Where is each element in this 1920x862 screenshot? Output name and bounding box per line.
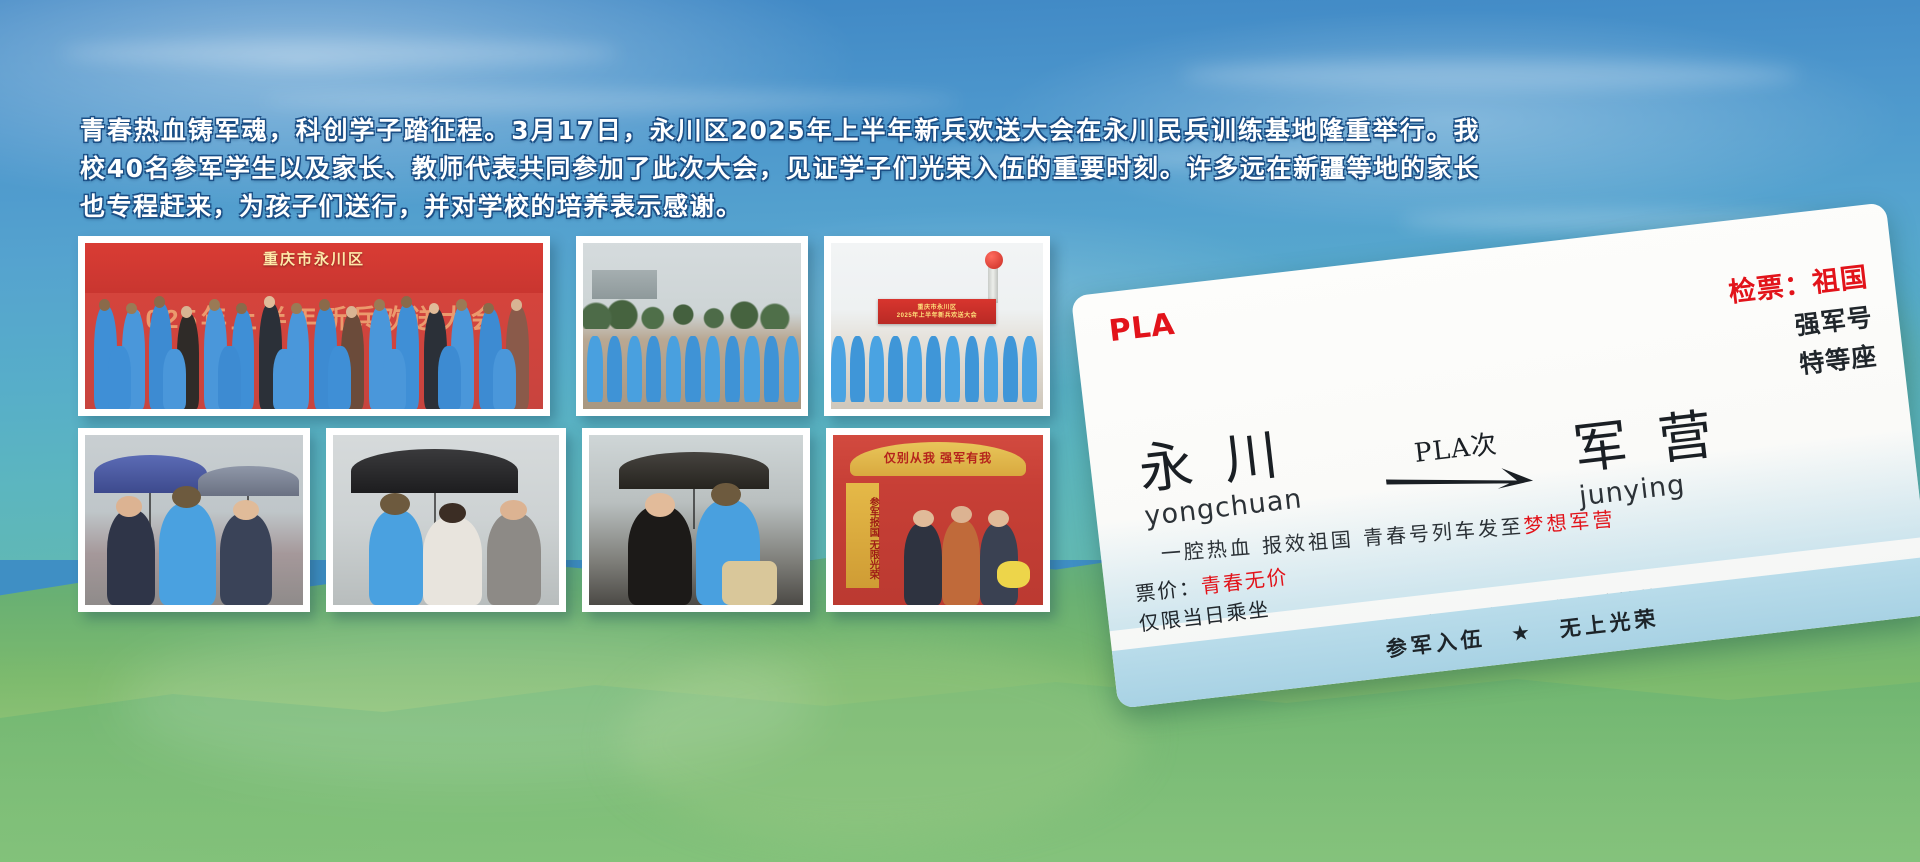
photo-red-archway[interactable]: 仅别从我 强军有我 参军报国 无限光荣	[826, 428, 1050, 612]
photo-farewell-blue-umbrella[interactable]	[78, 428, 310, 612]
star-icon: ★	[1510, 621, 1535, 644]
photo-group-red-stage[interactable]: 重庆市永川区 2025年上半年新兵欢送大会	[78, 236, 550, 416]
flower-bouquet	[997, 561, 1031, 588]
umbrella-icon-2	[198, 466, 298, 497]
archway-text: 仅别从我 强军有我	[884, 449, 992, 466]
archway-side-text: 参军报国 无限光荣	[846, 483, 880, 588]
black-umbrella-icon	[351, 449, 518, 493]
ticket-price-label: 票价：	[1134, 575, 1202, 606]
ticket-strip-left: 参军入伍	[1384, 622, 1487, 663]
ticket-brand: PLA	[1107, 307, 1176, 349]
poster-canvas: 青春热血铸军魂，科创学子踏征程。3月17日，永川区2025年上半年新兵欢送大会在…	[0, 0, 1920, 862]
ticket-check-block: 检票：祖国 强军号 特等座	[1726, 255, 1879, 388]
page-headline: 青春热血铸军魂，科创学子踏征程。3月17日，永川区2025年上半年新兵欢送大会在…	[80, 112, 1480, 226]
ticket-origin: 永 川 yongchuan	[1136, 424, 1304, 533]
photo-farewell-couple[interactable]	[582, 428, 810, 612]
hill-highlight	[120, 620, 820, 780]
photo-farewell-black-umbrella[interactable]	[326, 428, 566, 612]
photo-ranks-led-banner[interactable]: 重庆市永川区 2025年上半年新兵欢送大会	[824, 236, 1050, 416]
photo-formation-field[interactable]	[576, 236, 808, 416]
couple-umbrella-icon	[619, 452, 769, 489]
ticket-strip-right: 无上光荣	[1558, 602, 1661, 643]
photo-crowd	[85, 243, 543, 409]
